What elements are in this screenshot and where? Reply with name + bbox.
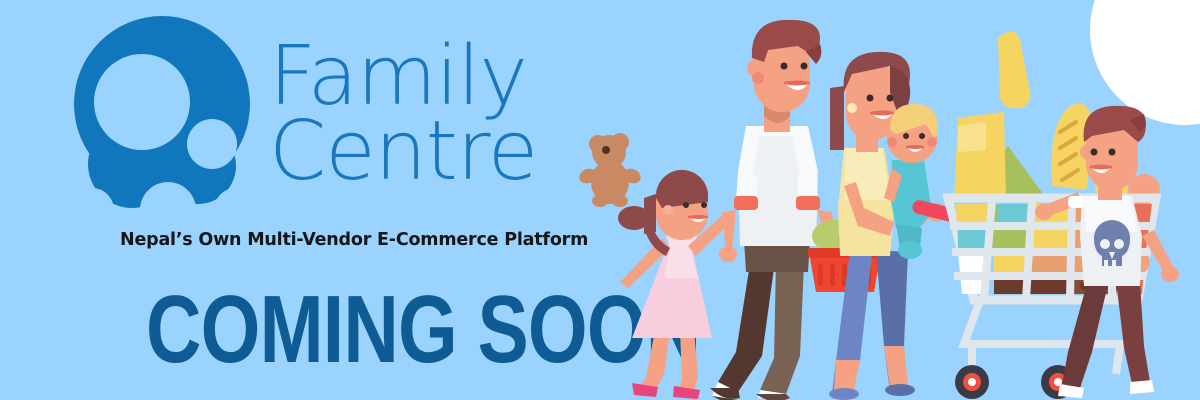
teddy-bear [577,133,643,207]
family-shopping-illustration [560,0,1200,400]
father-with-basket [710,20,841,400]
coming-soon-banner: Family Centre Nepal’s Own Multi-Vendor E… [0,0,1200,400]
tagline: Nepal’s Own Multi-Vendor E-Commerce Plat… [120,230,588,250]
brand-block: Family Centre Nepal’s Own Multi-Vendor E… [70,14,590,394]
brand-name-line2: Centre [269,114,537,189]
girl-with-teddy-bear [618,170,733,399]
brand-name-line1: Family [269,39,537,114]
brand-wordmark: Family Centre [269,39,537,190]
baby [884,104,938,259]
mother-with-baby [829,52,947,400]
logo-lockup: Family Centre [70,14,537,214]
family-centre-logo-mark [70,14,255,214]
cart-wheel-left [955,365,989,399]
